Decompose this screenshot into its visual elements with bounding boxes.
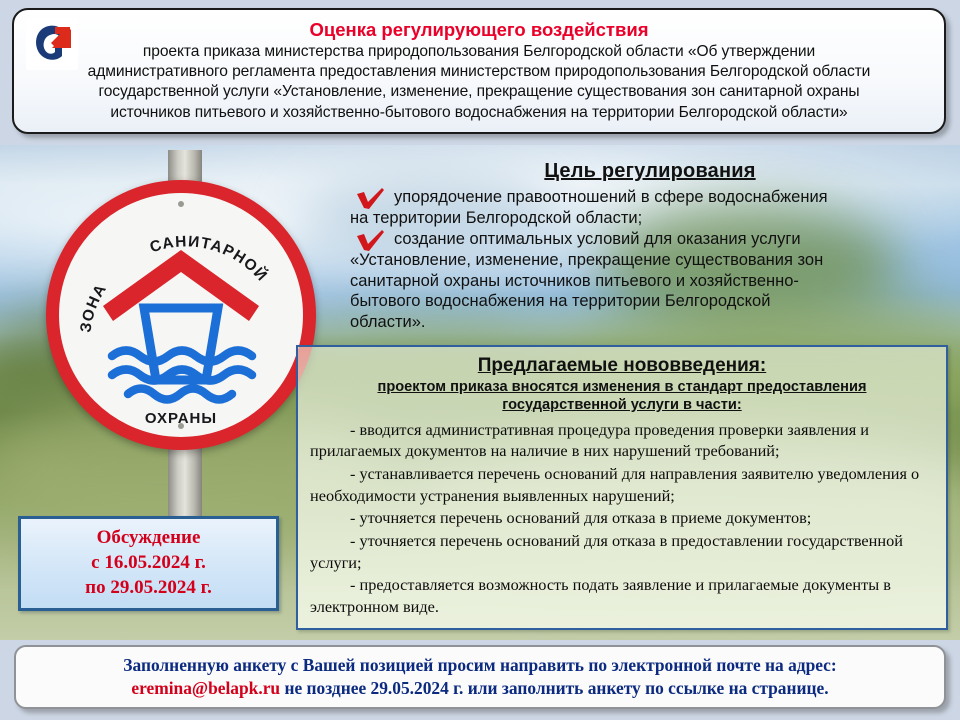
page-title: Оценка регулирующего воздействия [28, 20, 930, 41]
innovations-subheading-line: государственной услуги в части: [310, 397, 934, 415]
header-line: административного регламента предоставле… [28, 62, 930, 82]
footer-deadline-text: не позднее 29.05.2024 г. или заполнить а… [280, 678, 829, 698]
goal-item-line: бытового водоснабжения на территории Бел… [350, 291, 950, 312]
poster-page: ЗОНА САНИТАРНОЙ ОХРАНЫ Оценка р [0, 0, 960, 720]
discussion-end-date: по 29.05.2024 г. [85, 576, 212, 601]
footer-instruction: Заполненную анкету с Вашей позицией прос… [123, 654, 836, 677]
sign-bottom-text: ОХРАНЫ [145, 410, 217, 427]
header-line: источников питьевого и хозяйственно-быто… [28, 103, 930, 123]
header-line: государственной услуги «Установление, из… [28, 82, 930, 102]
goal-item-line: области». [350, 312, 950, 333]
discussion-start-date: с 16.05.2024 г. [91, 551, 206, 576]
goal-title: Цель регулирования [350, 160, 950, 183]
innovations-subheading: проектом приказа вносятся изменения в ст… [310, 379, 934, 415]
header-box: Оценка регулирующего воздействия проекта… [12, 8, 946, 134]
header-line: проекта приказа министерства природополь… [28, 42, 930, 62]
footer-box: Заполненную анкету с Вашей позицией прос… [14, 645, 946, 709]
goal-item: упорядочение правоотношений в сфере водо… [350, 187, 950, 228]
discussion-period-box: Обсуждение с 16.05.2024 г. по 29.05.2024… [18, 516, 279, 611]
goal-item-line: создание оптимальных условий для оказани… [350, 229, 950, 250]
belgorod-region-logo-icon [26, 18, 78, 70]
innovations-subheading-line: проектом приказа вносятся изменения в ст… [310, 379, 934, 397]
contact-email[interactable]: eremina@belapk.ru [131, 678, 280, 698]
innovations-list: - вводится административная процедура пр… [310, 419, 934, 618]
goal-item-line: упорядочение правоотношений в сфере водо… [350, 187, 950, 208]
innovations-box: Предлагаемые нововведения: проектом прик… [296, 345, 948, 630]
red-checkmark-icon [356, 230, 386, 252]
innovations-list-item: - устанавливается перечень оснований для… [310, 463, 934, 506]
innovations-list-item: - уточняется перечень оснований для отка… [310, 530, 934, 573]
goal-item-line: «Установление, изменение, прекращение су… [350, 250, 950, 271]
innovations-heading: Предлагаемые нововведения: [310, 355, 934, 377]
header-subtitle: проекта приказа министерства природополь… [28, 42, 930, 123]
red-checkmark-icon [356, 188, 386, 210]
sign-face: ЗОНА САНИТАРНОЙ ОХРАНЫ [46, 180, 316, 450]
goal-item: создание оптимальных условий для оказани… [350, 229, 950, 332]
footer-contact-line: eremina@belapk.ru не позднее 29.05.2024 … [131, 677, 828, 700]
discussion-title: Обсуждение [97, 526, 201, 551]
innovations-list-item: - вводится административная процедура пр… [310, 419, 934, 462]
goal-item-line: на территории Белгородской области; [350, 208, 950, 229]
innovations-list-item: - уточняется перечень оснований для отка… [310, 507, 934, 529]
goal-item-line: санитарной охраны источников питьевого и… [350, 271, 950, 292]
innovations-list-item: - предоставляется возможность подать зая… [310, 574, 934, 617]
goal-section: Цель регулирования упорядочение правоотн… [350, 160, 950, 333]
sign-pictogram-icon: ЗОНА САНИТАРНОЙ ОХРАНЫ [46, 180, 316, 450]
